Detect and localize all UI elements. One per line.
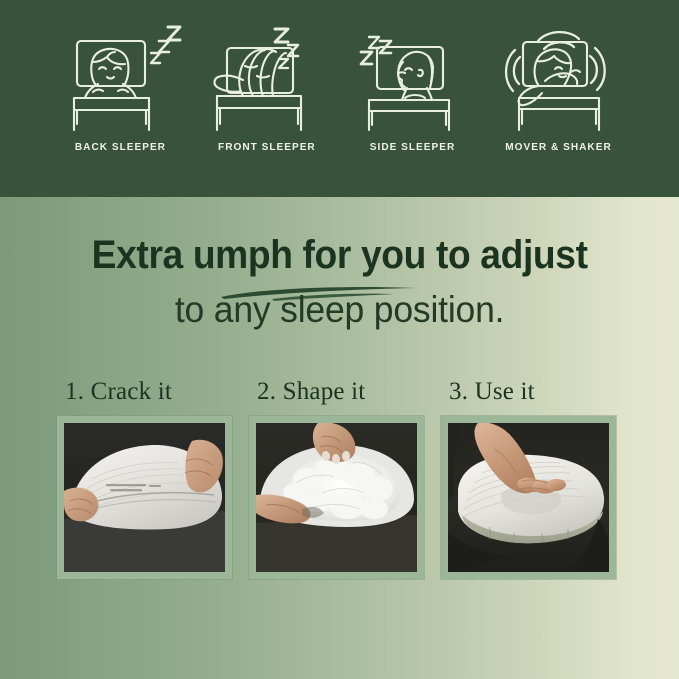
sleep-position-front-sleeper: FRONT SLEEPER xyxy=(194,18,340,178)
back-sleeper-label: BACK SLEEPER xyxy=(75,141,166,153)
step-3-photo xyxy=(448,423,609,572)
mover-and-shaker-icon xyxy=(493,18,625,136)
sleep-position-side-sleeper: SIDE SLEEPER xyxy=(340,18,486,178)
step-crack-it: 1. Crack it xyxy=(57,378,239,579)
step-3-label: 3. Use it xyxy=(449,378,623,406)
headline-line-2: to any sleep position. xyxy=(175,290,504,330)
step-1-label: 1. Crack it xyxy=(65,378,239,406)
steps-row: 1. Crack it xyxy=(57,378,625,579)
headline-container: Extra umph for you to adjust xyxy=(0,233,679,277)
sleep-position-back-sleeper: BACK SLEEPER xyxy=(48,18,194,178)
step-shape-it: 2. Shape it xyxy=(249,378,431,579)
subheadline-container: to any sleep position. xyxy=(0,290,679,330)
front-sleeper-icon xyxy=(201,18,333,136)
step-2-photo xyxy=(256,423,417,572)
headline-line-1: Extra umph for you to adjust xyxy=(92,233,588,277)
step-1-photo xyxy=(64,423,225,572)
promo-graphic: BACK SLEEPER xyxy=(0,0,679,679)
step-2-label: 2. Shape it xyxy=(257,378,431,406)
sleep-position-mover-shaker: MOVER & SHAKER xyxy=(486,18,632,178)
mover-shaker-label: MOVER & SHAKER xyxy=(505,141,612,153)
step-3-photo-frame xyxy=(441,416,616,579)
sleep-position-icon-row: BACK SLEEPER xyxy=(0,18,679,178)
step-1-photo-frame xyxy=(57,416,232,579)
back-sleeper-icon xyxy=(55,18,187,136)
front-sleeper-label: FRONT SLEEPER xyxy=(218,141,316,153)
side-sleeper-icon xyxy=(347,18,479,136)
step-2-photo-frame xyxy=(249,416,424,579)
sleep-position-banner: BACK SLEEPER xyxy=(0,0,679,197)
step-use-it: 3. Use it xyxy=(441,378,623,579)
side-sleeper-label: SIDE SLEEPER xyxy=(370,141,455,153)
